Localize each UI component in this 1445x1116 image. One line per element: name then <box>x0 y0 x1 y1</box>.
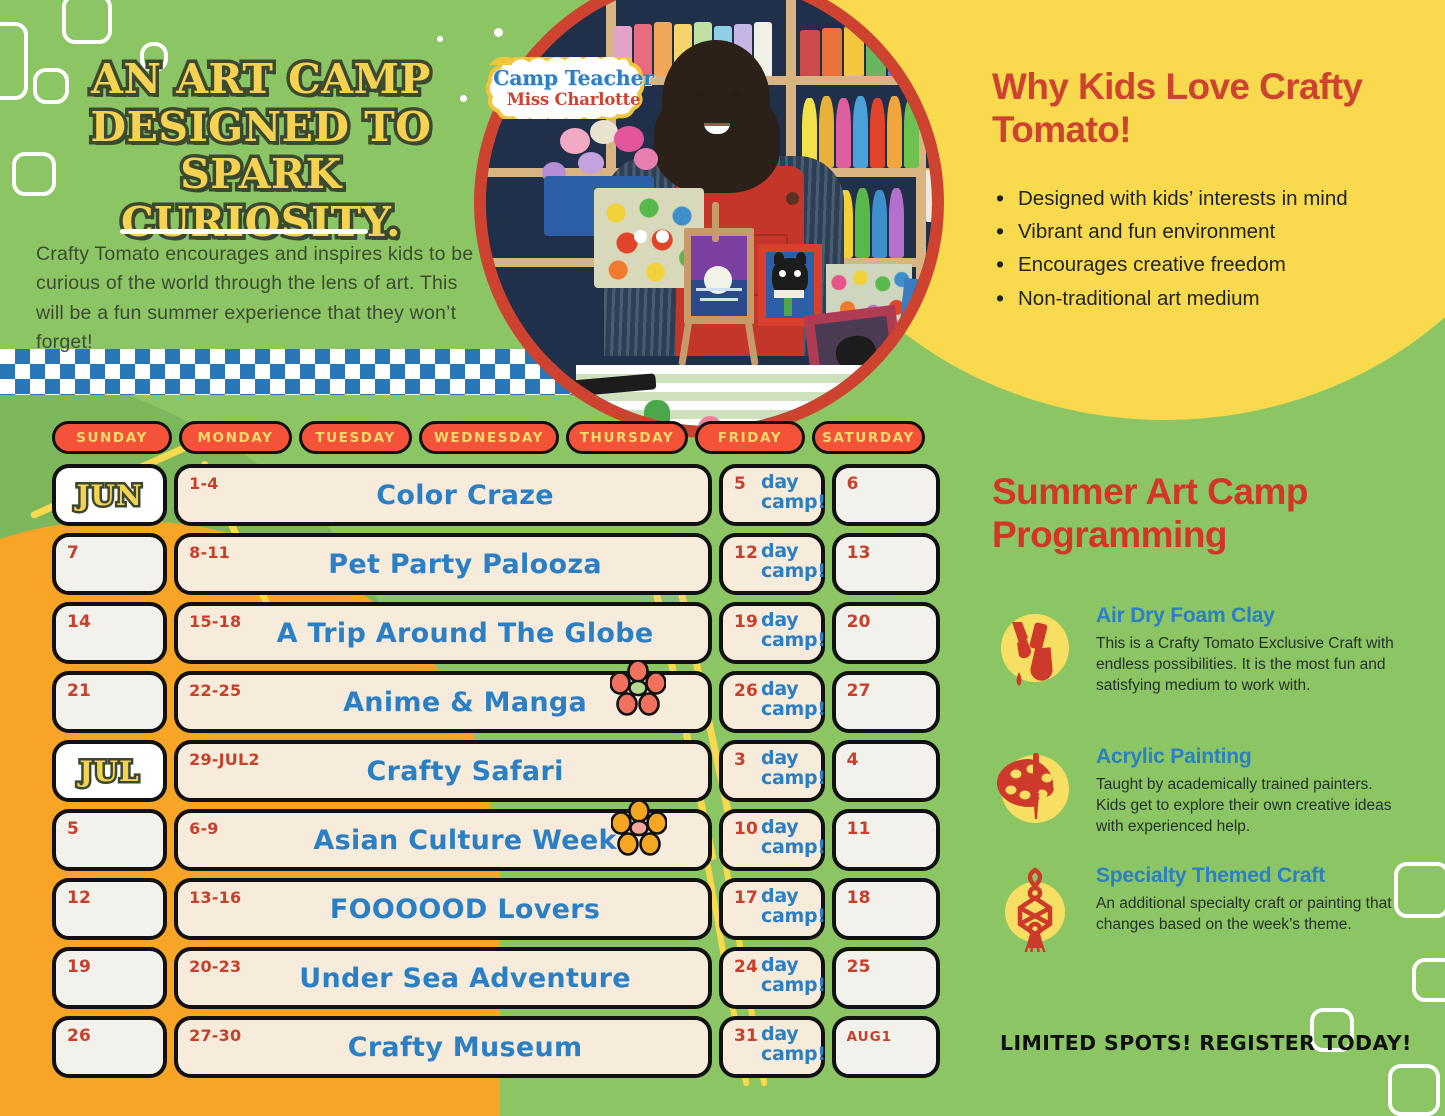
program-heading: Acrylic Painting <box>1096 745 1407 769</box>
program-item-specialty-themed-craft: Specialty Themed Craft An additional spe… <box>992 864 1407 935</box>
why-item: Designed with kids’ interests in mind <box>992 182 1402 215</box>
day-camp-label: day camp! <box>761 818 817 858</box>
day-camp-label: day camp! <box>761 956 817 996</box>
program-body: Taught by academically trained painters.… <box>1096 774 1407 837</box>
decor-square <box>62 0 112 44</box>
why-item: Vibrant and fun environment <box>992 215 1402 248</box>
calendar-day-cell-friday: 26day camp! <box>719 671 825 733</box>
calendar-day-cell-friday: 3day camp! <box>719 740 825 802</box>
calendar-week-theme-cell: 13-16FOOOOOD Lovers <box>174 878 712 940</box>
program-item-acrylic-painting: Acrylic Painting Taught by academically … <box>992 745 1407 837</box>
day-camp-label: day camp! <box>761 749 817 789</box>
day-camp-label: day camp! <box>761 611 817 651</box>
calendar-week-theme-cell: 1-4Color Craze <box>174 464 712 526</box>
week-theme-label: Crafty Museum <box>178 1020 708 1074</box>
calendar-day-cell-saturday: 27 <box>832 671 940 733</box>
day-number: 14 <box>67 612 91 632</box>
day-number: AUG1 <box>847 1029 892 1045</box>
program-item-air-dry-foam-clay: Air Dry Foam Clay This is a Crafty Tomat… <box>992 604 1407 696</box>
month-label: JUN <box>76 479 142 512</box>
day-number: 26 <box>734 681 758 701</box>
week-theme-label: A Trip Around The Globe <box>178 606 708 660</box>
day-number: 26 <box>67 1026 91 1046</box>
day-number: 19 <box>734 612 758 632</box>
day-number: 6 <box>847 474 859 494</box>
camp-calendar: SUNDAY MONDAY TUESDAY WEDNESDAY THURSDAY… <box>52 421 940 1085</box>
day-number: 11 <box>847 819 871 839</box>
day-header-wednesday: WEDNESDAY <box>419 421 559 454</box>
calendar-day-cell-saturday: 13 <box>832 533 940 595</box>
calendar-day-cell-sunday: 12 <box>52 878 167 940</box>
calendar-day-cell-saturday: 20 <box>832 602 940 664</box>
calendar-day-cell-sunday: 26 <box>52 1016 167 1078</box>
why-kids-love-title: Why Kids Love Crafty Tomato! <box>992 66 1392 152</box>
badge-line-2: Miss Charlotte <box>507 91 641 108</box>
calendar-day-cell-friday: 17day camp! <box>719 878 825 940</box>
calendar-day-cell-sunday: 14 <box>52 602 167 664</box>
calendar-week-theme-cell: 29-JUL2Crafty Safari <box>174 740 712 802</box>
day-header-monday: MONDAY <box>179 421 292 454</box>
day-header-sunday: SUNDAY <box>52 421 172 454</box>
calendar-day-cell-sunday: 5 <box>52 809 167 871</box>
day-number: 12 <box>734 543 758 563</box>
calendar-day-cell-friday: 24day camp! <box>719 947 825 1009</box>
decor-square <box>1412 958 1445 1002</box>
week-theme-label: Crafty Safari <box>178 744 708 798</box>
decor-dot <box>437 36 443 42</box>
paint-palette-icon <box>992 747 1078 833</box>
badge-line-1: Camp Teacher <box>493 68 654 89</box>
headline-line-2: DESIGNED TO <box>36 104 486 152</box>
week-theme-label: Color Craze <box>178 468 708 522</box>
day-number: 12 <box>67 888 91 908</box>
day-camp-label: day camp! <box>761 1025 817 1065</box>
program-heading: Air Dry Foam Clay <box>1096 604 1407 628</box>
calendar-day-cell-saturday: 6 <box>832 464 940 526</box>
calendar-day-cell-sunday: 19 <box>52 947 167 1009</box>
poster-canvas: AN ART CAMP DESIGNED TO SPARK CURIOSITY.… <box>0 0 1445 1116</box>
calendar-week-theme-cell: 8-11Pet Party Palooza <box>174 533 712 595</box>
day-header-friday: FRIDAY <box>695 421 805 454</box>
day-number: 31 <box>734 1026 758 1046</box>
day-header-thursday: THURSDAY <box>566 421 688 454</box>
camp-teacher-badge: Camp Teacher Miss Charlotte <box>476 57 671 119</box>
calendar-day-cell-friday: 10day camp! <box>719 809 825 871</box>
day-header-tuesday: TUESDAY <box>299 421 412 454</box>
calendar-row: 1213-16FOOOOOD Lovers17day camp!18 <box>52 878 940 940</box>
decor-square <box>1388 1064 1440 1116</box>
day-number: 5 <box>67 819 79 839</box>
program-body: An additional specialty craft or paintin… <box>1096 893 1407 935</box>
calendar-day-cell-saturday: 4 <box>832 740 940 802</box>
calendar-month-cell: JUL <box>52 740 167 802</box>
month-label: JUL <box>79 755 139 788</box>
day-number: 27 <box>847 681 871 701</box>
day-number: 25 <box>847 957 871 977</box>
calendar-day-cell-saturday: 25 <box>832 947 940 1009</box>
day-camp-label: day camp! <box>761 680 817 720</box>
day-header-saturday: SATURDAY <box>812 421 925 454</box>
calendar-week-theme-cell: 27-30Crafty Museum <box>174 1016 712 1078</box>
calendar-day-headers: SUNDAY MONDAY TUESDAY WEDNESDAY THURSDAY… <box>52 421 940 454</box>
intro-paragraph: Crafty Tomato encourages and inspires ki… <box>36 240 476 357</box>
program-heading: Specialty Themed Craft <box>1096 864 1407 888</box>
calendar-row: 2627-30Crafty Museum31day camp!AUG1 <box>52 1016 940 1078</box>
calendar-month-cell: JUN <box>52 464 167 526</box>
day-number: 18 <box>847 888 871 908</box>
program-body: This is a Crafty Tomato Exclusive Craft … <box>1096 633 1407 696</box>
calendar-day-cell-sunday: 7 <box>52 533 167 595</box>
week-theme-label: Under Sea Adventure <box>178 951 708 1005</box>
day-number: 13 <box>847 543 871 563</box>
day-number: 19 <box>67 957 91 977</box>
clay-tools-icon <box>992 606 1078 692</box>
week-theme-label: FOOOOOD Lovers <box>178 882 708 936</box>
calendar-rows: JUN1-4Color Craze5day camp!678-11Pet Par… <box>52 464 940 1078</box>
day-camp-label: day camp! <box>761 473 817 513</box>
day-number: 24 <box>734 957 758 977</box>
calendar-day-cell-friday: 19day camp! <box>719 602 825 664</box>
flower-orange-icon <box>611 800 667 856</box>
day-number: 20 <box>847 612 871 632</box>
day-number: 17 <box>734 888 758 908</box>
calendar-row: 56-9Asian Culture Week10day camp!11 <box>52 809 940 871</box>
day-number: 5 <box>734 474 746 494</box>
calendar-day-cell-saturday: 11 <box>832 809 940 871</box>
headline-line-1: AN ART CAMP <box>36 56 486 104</box>
day-number: 3 <box>734 750 746 770</box>
calendar-row: JUL29-JUL2Crafty Safari3day camp!4 <box>52 740 940 802</box>
calendar-row: 2122-25Anime & Manga26day camp!27 <box>52 671 940 733</box>
headline-divider <box>120 229 368 234</box>
programming-title: Summer Art Camp Programming <box>992 471 1422 556</box>
why-kids-love-list: Designed with kids’ interests in mind Vi… <box>992 182 1402 315</box>
day-number: 4 <box>847 750 859 770</box>
why-item: Encourages creative freedom <box>992 248 1402 281</box>
decor-square <box>0 22 28 100</box>
calendar-row: 1415-18A Trip Around The Globe19day camp… <box>52 602 940 664</box>
page-title: AN ART CAMP DESIGNED TO SPARK CURIOSITY. <box>36 56 486 246</box>
calendar-row: 1920-23Under Sea Adventure24day camp!25 <box>52 947 940 1009</box>
day-camp-label: day camp! <box>761 542 817 582</box>
day-number: 21 <box>67 681 91 701</box>
day-camp-label: day camp! <box>761 887 817 927</box>
day-number: 10 <box>734 819 758 839</box>
week-theme-label: Pet Party Palooza <box>178 537 708 591</box>
why-item: Non-traditional art medium <box>992 282 1402 315</box>
calendar-day-cell-sunday: 21 <box>52 671 167 733</box>
calendar-week-theme-cell: 15-18A Trip Around The Globe <box>174 602 712 664</box>
calendar-day-cell-saturday: AUG1 <box>832 1016 940 1078</box>
calendar-week-theme-cell: 20-23Under Sea Adventure <box>174 947 712 1009</box>
calendar-day-cell-saturday: 18 <box>832 878 940 940</box>
calendar-row: 78-11Pet Party Palooza12day camp!13 <box>52 533 940 595</box>
flower-pink-icon <box>610 660 666 716</box>
calendar-day-cell-friday: 31day camp! <box>719 1016 825 1078</box>
day-number: 7 <box>67 543 79 563</box>
calendar-day-cell-friday: 12day camp! <box>719 533 825 595</box>
knot-tassel-icon <box>992 866 1078 952</box>
register-cta[interactable]: LIMITED SPOTS! REGISTER TODAY! <box>1000 1031 1412 1055</box>
calendar-row: JUN1-4Color Craze5day camp!6 <box>52 464 940 526</box>
calendar-day-cell-friday: 5day camp! <box>719 464 825 526</box>
